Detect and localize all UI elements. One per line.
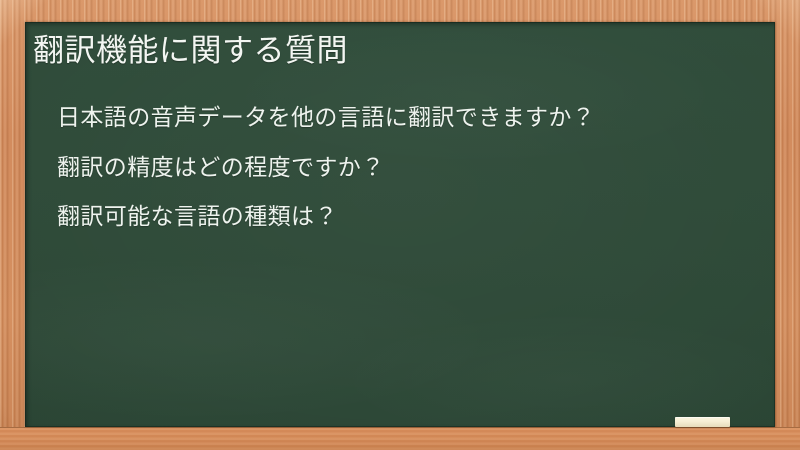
chalk-stick — [675, 417, 730, 427]
chalk-ledge — [0, 427, 800, 450]
chalkboard-slide: 翻訳機能に関する質問 日本語の音声データを他の言語に翻訳できますか？ 翻訳の精度… — [0, 0, 800, 450]
page-title: 翻訳機能に関する質問 — [33, 32, 733, 72]
question-list: 日本語の音声データを他の言語に翻訳できますか？ 翻訳の精度はどの程度ですか？ 翻… — [57, 102, 747, 234]
list-item: 翻訳の精度はどの程度ですか？ — [57, 152, 747, 185]
chalkboard-surface: 翻訳機能に関する質問 日本語の音声データを他の言語に翻訳できますか？ 翻訳の精度… — [25, 22, 775, 427]
list-item: 日本語の音声データを他の言語に翻訳できますか？ — [57, 102, 747, 135]
list-item: 翻訳可能な言語の種類は？ — [57, 201, 747, 234]
